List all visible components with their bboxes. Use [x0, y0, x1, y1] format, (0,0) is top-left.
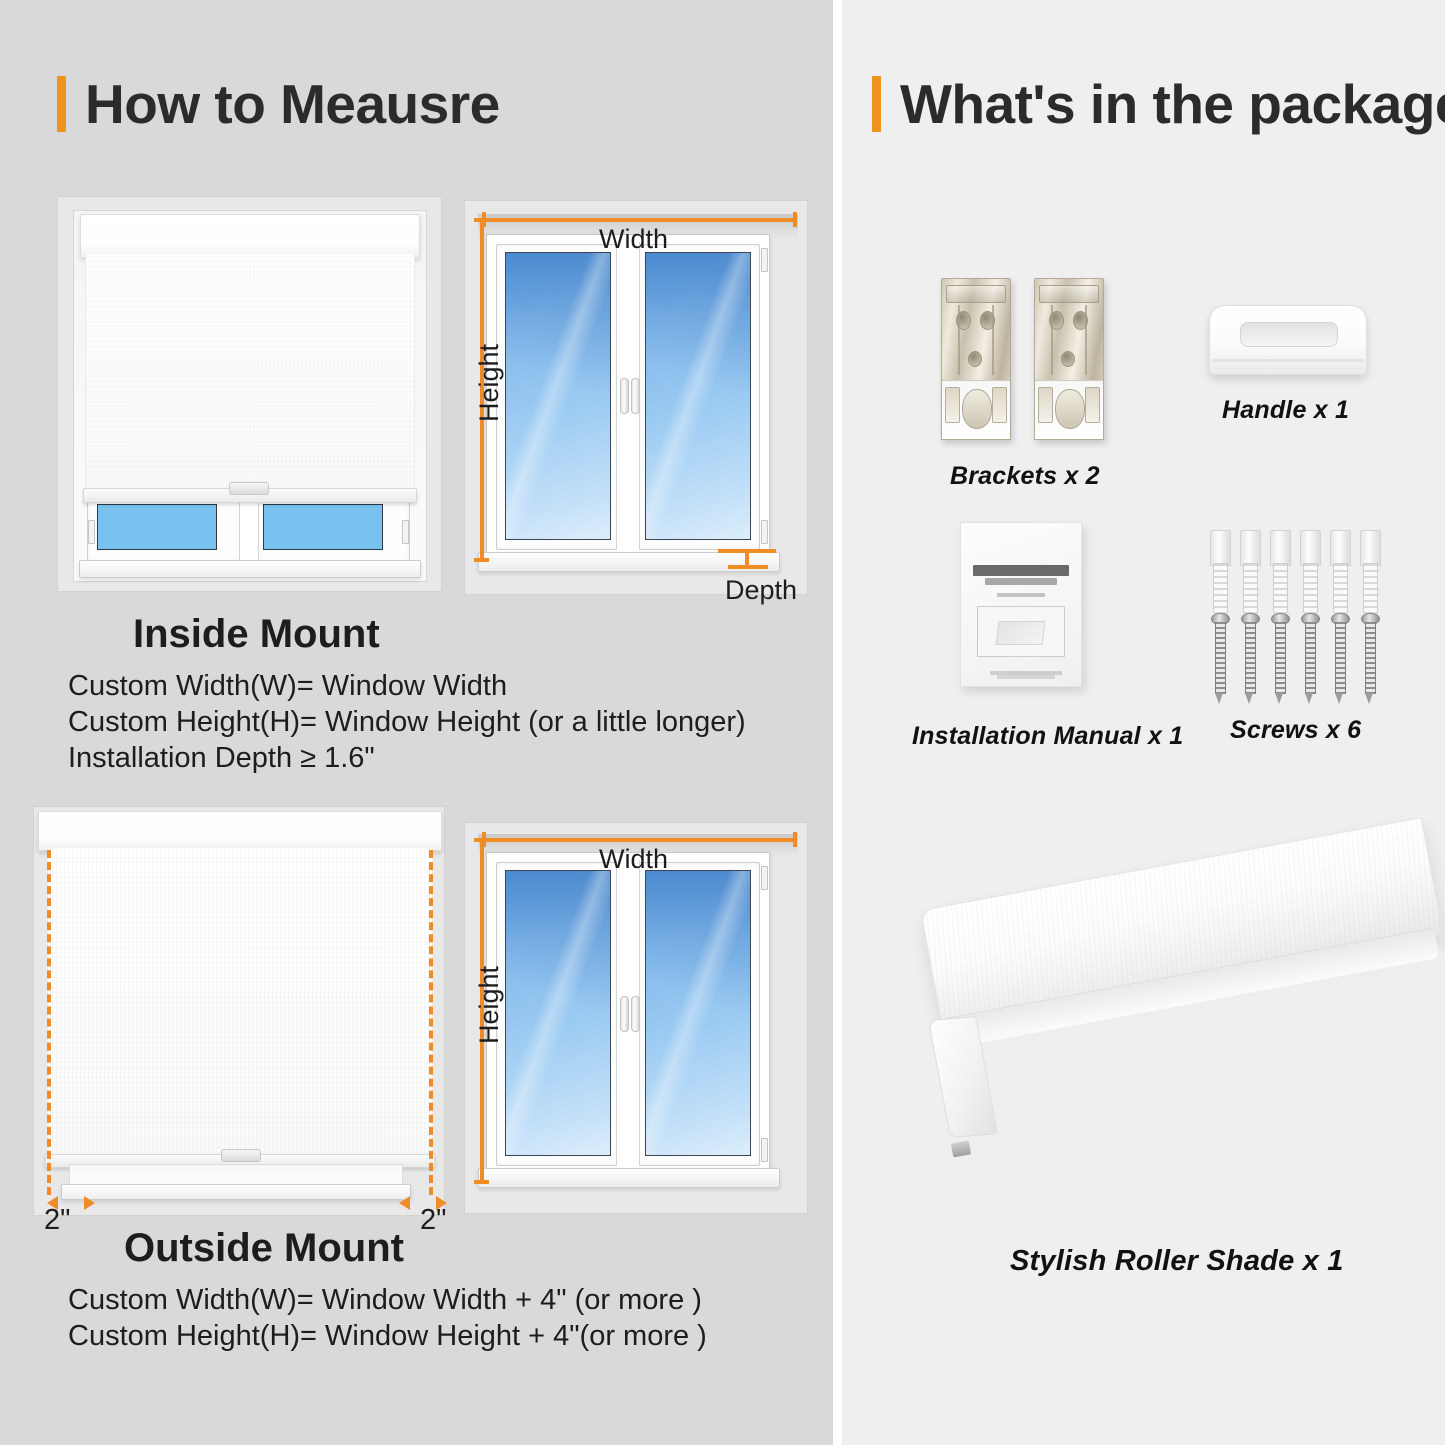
window-glass-left — [505, 252, 611, 540]
bracket-crease — [1085, 305, 1087, 375]
height-label: Height — [474, 966, 505, 1044]
outside-mount-title: Outside Mount — [124, 1226, 404, 1271]
window-hinge-right — [402, 520, 409, 544]
accent-bar-icon — [57, 76, 66, 132]
overhang-label-left: 2" — [44, 1204, 70, 1237]
bracket-crease — [1051, 305, 1053, 375]
manual-cover-subtitle — [985, 578, 1057, 585]
window-glass-left — [97, 504, 217, 550]
inside-mount-line-3: Installation Depth ≥ 1.6" — [68, 742, 375, 775]
width-measure-line — [482, 218, 797, 222]
anchor-body — [1333, 563, 1348, 615]
installation-manual-label: Installation Manual x 1 — [912, 722, 1183, 751]
brackets-label: Brackets x 2 — [950, 462, 1100, 491]
handle-grip-slot — [1240, 322, 1338, 347]
screw-tip — [1335, 693, 1343, 704]
bracket-item-1 — [941, 278, 1011, 440]
screw-tip — [1305, 693, 1313, 704]
bracket-hole — [968, 351, 982, 367]
anchor-body — [1273, 563, 1288, 615]
window-glass-right — [645, 252, 751, 540]
panel-divider — [833, 0, 842, 1445]
package-title: What's in the package — [900, 77, 1445, 132]
screw-shaft — [1305, 622, 1316, 694]
window-handle-left — [620, 378, 629, 414]
height-measure-end-bottom — [474, 558, 489, 562]
manual-cover-figure — [977, 606, 1066, 657]
window-mullion — [239, 494, 259, 566]
screw-shaft — [1275, 622, 1286, 694]
outside-mount-line-1: Custom Width(W)= Window Width + 4" (or m… — [68, 1284, 702, 1317]
outside-mount-dimension-diagram: Width Height — [456, 822, 816, 1222]
window-hinge-bottom — [761, 1138, 768, 1162]
anchor-head — [1240, 530, 1261, 566]
width-measure-end-right — [793, 832, 797, 847]
measure-title: How to Meausre — [85, 77, 500, 132]
inside-mount-title: Inside Mount — [133, 612, 380, 657]
anchor-head — [1330, 530, 1351, 566]
anchor-head — [1360, 530, 1381, 566]
window-hinge-top — [761, 866, 768, 890]
roller-shade-pin — [951, 1140, 971, 1157]
handle-lip — [1212, 367, 1364, 370]
depth-measure-base — [728, 565, 768, 569]
window-glass-right — [645, 870, 751, 1156]
accent-bar-icon — [872, 76, 881, 132]
shade-valance — [80, 214, 420, 258]
depth-label: Depth — [725, 575, 797, 606]
roller-shade-label: Stylish Roller Shade x 1 — [1010, 1245, 1344, 1278]
screw-tip — [1215, 693, 1223, 704]
screw-shaft — [1335, 622, 1346, 694]
width-measure-line — [482, 838, 797, 842]
bracket-base — [942, 380, 1010, 439]
width-measure-end-right — [793, 212, 797, 227]
screw-shaft — [1365, 622, 1376, 694]
window-handle-right — [631, 996, 640, 1032]
bracket-item-2 — [1034, 278, 1104, 440]
handle-lip — [1212, 359, 1364, 362]
inside-mount-line-1: Custom Width(W)= Window Width — [68, 670, 507, 703]
bracket-slot-left — [945, 387, 960, 423]
height-measure-end-top — [474, 838, 489, 842]
shade-pull-handle — [229, 482, 269, 495]
window-glass-right — [263, 504, 383, 550]
outside-mount-shade-illustration — [33, 806, 445, 1216]
handle-item — [1209, 305, 1367, 375]
bracket-top-flange — [946, 285, 1006, 303]
screw-tip — [1245, 693, 1253, 704]
anchor-body — [1303, 563, 1318, 615]
window-hinge-top — [761, 248, 768, 272]
window-handle-left — [620, 996, 629, 1032]
measure-section-heading: How to Meausre — [57, 76, 500, 132]
shade-valance — [38, 811, 442, 851]
bracket-crease — [958, 305, 960, 375]
window-sill — [79, 560, 421, 578]
bracket-base — [1035, 380, 1103, 439]
bracket-slot-left — [1038, 387, 1053, 423]
window-sill — [61, 1184, 411, 1200]
outside-mount-line-2: Custom Height(H)= Window Height + 4"(or … — [68, 1320, 707, 1353]
overhang-label-right: 2" — [420, 1204, 446, 1237]
manual-cover-scribble — [997, 593, 1045, 597]
window-hinge-bottom — [761, 520, 768, 544]
bracket-crease — [992, 305, 994, 375]
handle-label: Handle x 1 — [1222, 396, 1349, 425]
anchor-body — [1243, 563, 1258, 615]
screw-shaft — [1245, 622, 1256, 694]
width-label: Width — [599, 844, 668, 875]
package-section-heading: What's in the package — [872, 76, 1445, 132]
manual-cover-footer-line — [997, 675, 1055, 679]
window-glass-left — [505, 870, 611, 1156]
bracket-slot-right — [992, 387, 1007, 423]
window-hinge-left — [88, 520, 95, 544]
manual-cover-footer-line — [990, 671, 1062, 675]
bracket-top-flange — [1039, 285, 1099, 303]
overhang-guide-left — [47, 850, 51, 1195]
window-sill — [478, 1168, 780, 1188]
screws-label: Screws x 6 — [1230, 716, 1361, 745]
height-measure-end-bottom — [474, 1180, 489, 1184]
bracket-hole — [1061, 351, 1075, 367]
anchor-head — [1270, 530, 1291, 566]
width-label: Width — [599, 224, 668, 255]
installation-manual-item — [960, 522, 1082, 687]
shade-pull-handle — [221, 1149, 261, 1162]
manual-cover-title — [973, 565, 1069, 576]
shade-fabric — [47, 848, 433, 1158]
bracket-center-oval — [1055, 389, 1085, 429]
screw-tip — [1275, 693, 1283, 704]
bracket-slot-right — [1085, 387, 1100, 423]
window-handle-right — [631, 378, 640, 414]
window-sill — [478, 552, 780, 572]
anchor-body — [1213, 563, 1228, 615]
anchor-head — [1210, 530, 1231, 566]
anchor-head — [1300, 530, 1321, 566]
screw-shaft — [1215, 622, 1226, 694]
screw-tip — [1365, 693, 1373, 704]
inside-mount-line-2: Custom Height(H)= Window Height (or a li… — [68, 706, 746, 739]
anchor-body — [1363, 563, 1378, 615]
shade-fabric — [85, 254, 415, 492]
bracket-center-oval — [962, 389, 992, 429]
infographic-page: How to Meausre What's in the package — [0, 0, 1445, 1445]
roller-shade-item — [900, 880, 1445, 1180]
inside-mount-shade-illustration — [57, 196, 442, 592]
height-measure-end-top — [474, 218, 489, 222]
overhang-guide-right — [429, 850, 433, 1195]
height-label: Height — [474, 344, 505, 422]
inside-mount-dimension-diagram: Width Height Depth — [456, 200, 816, 605]
